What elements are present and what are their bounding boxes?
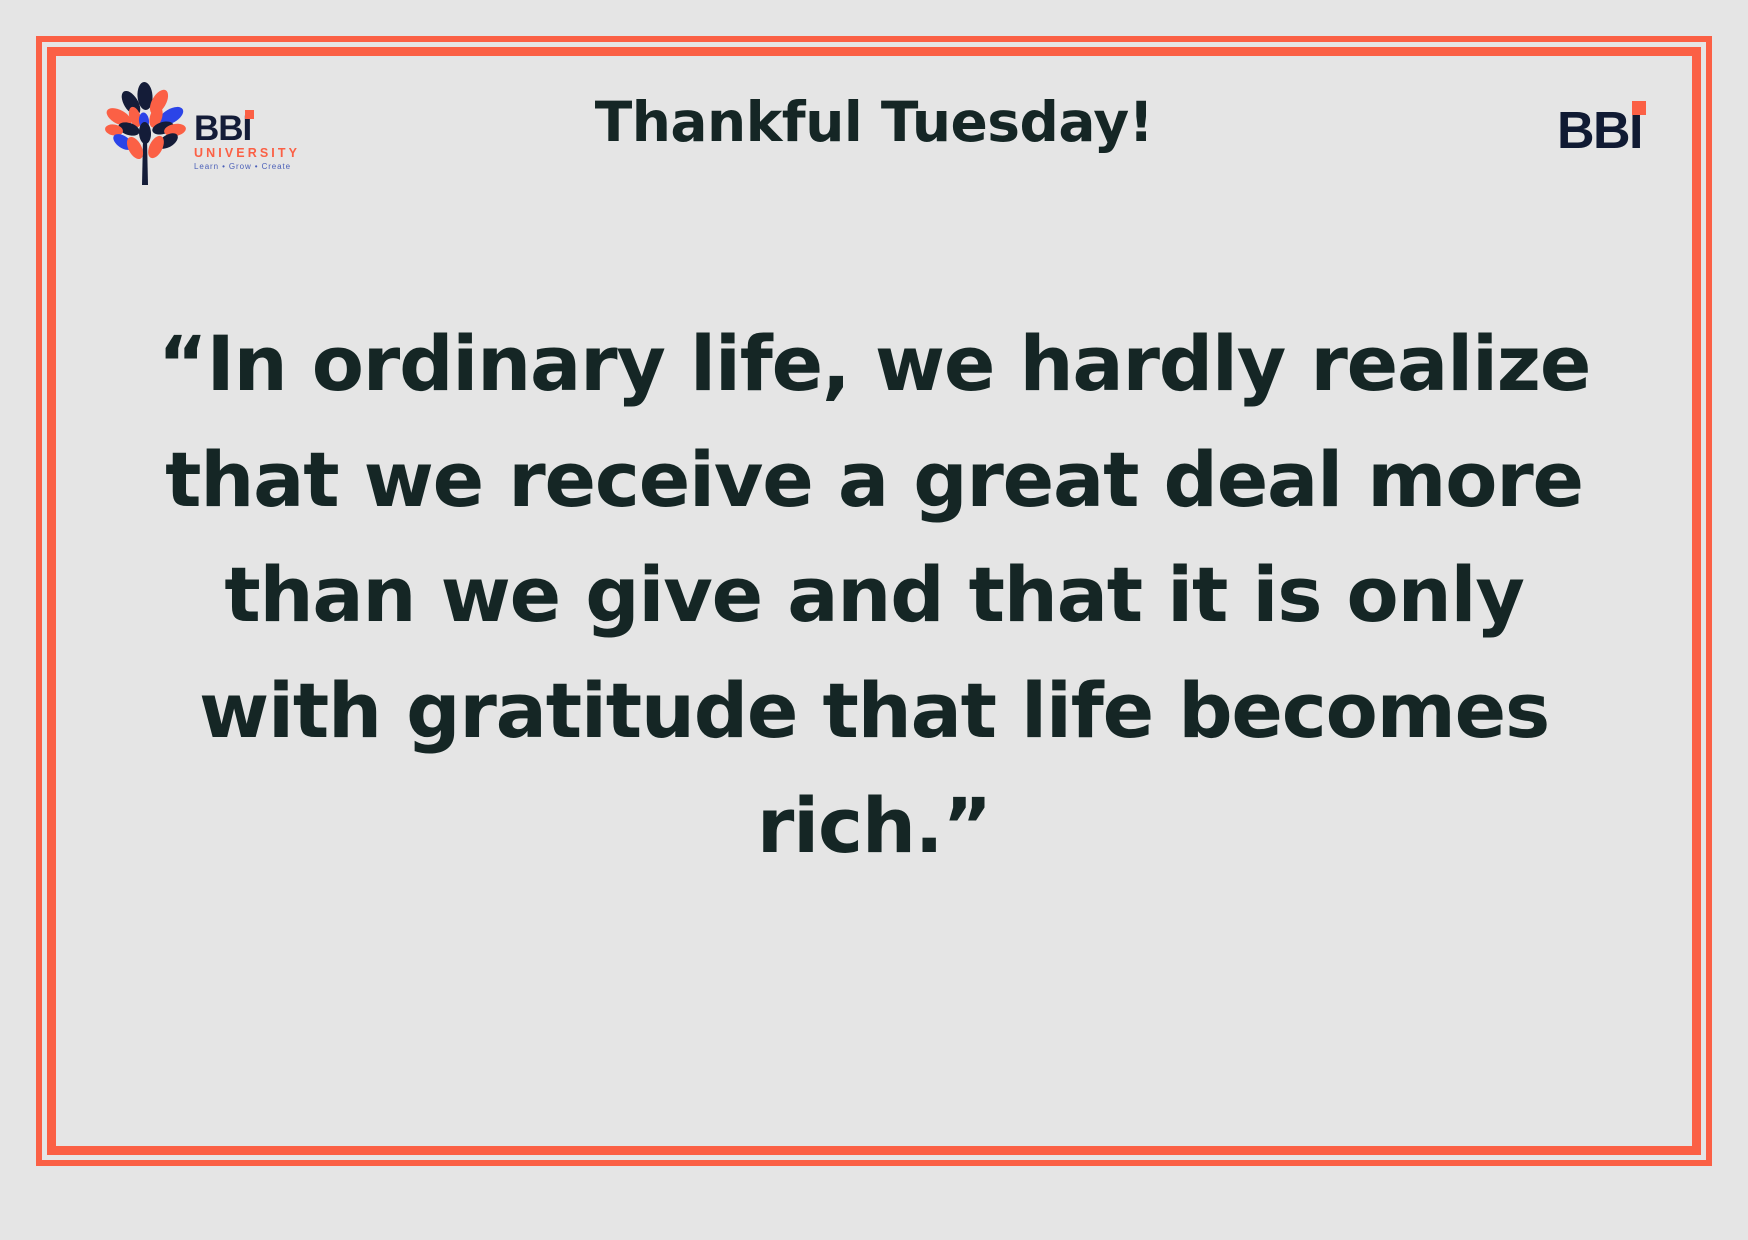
bbi-brand-label-left: BBI — [194, 109, 251, 148]
poster-canvas: BBI UNIVERSITY Learn • Grow • Create Tha… — [0, 0, 1748, 1240]
bbi-brand-text-right: BBI — [1557, 105, 1642, 157]
page-title: Thankful Tuesday! — [595, 90, 1154, 154]
bbi-brand-label-right: BBI — [1557, 102, 1642, 160]
poster-header: BBI UNIVERSITY Learn • Grow • Create Tha… — [56, 56, 1692, 206]
bbi-university-logo: BBI UNIVERSITY Learn • Grow • Create — [102, 77, 392, 185]
poster-content: BBI UNIVERSITY Learn • Grow • Create Tha… — [56, 56, 1692, 1146]
bbi-dot-accent-left — [245, 110, 254, 119]
quote-text: “In ordinary life, we hardly realize tha… — [139, 306, 1609, 884]
bbi-tagline-label: Learn • Grow • Create — [194, 162, 291, 171]
tree-logo-icon — [102, 77, 188, 185]
bbi-university-wordmark: BBI UNIVERSITY Learn • Grow • Create — [194, 112, 300, 185]
bbi-subbrand-label: UNIVERSITY — [194, 146, 300, 160]
bbi-dot-accent-right — [1632, 101, 1646, 115]
quote-section: “In ordinary life, we hardly realize tha… — [56, 206, 1692, 1146]
bbi-logo-right: BBI — [1352, 105, 1652, 157]
bbi-brand-text-left: BBI — [194, 112, 251, 145]
